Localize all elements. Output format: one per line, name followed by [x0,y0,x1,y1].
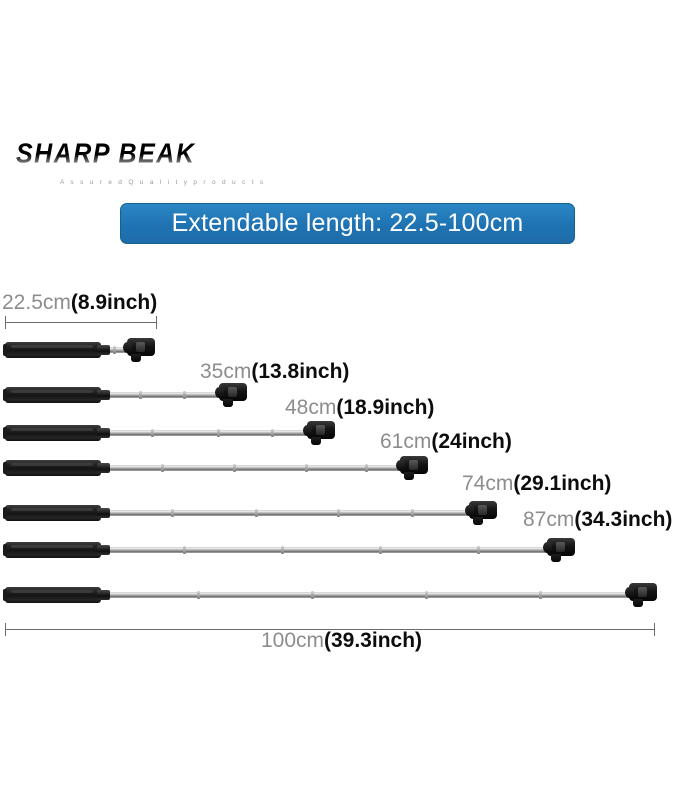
length-label-35cm: 35cm(13.8inch) [200,360,349,384]
extendable-length-banner: Extendable length: 22.5-100cm [120,203,575,244]
length-label-61cm: 61cm(24inch) [380,430,512,454]
shaft-joint [411,509,414,517]
brand-wordmark: SHARP BEAK [16,138,256,169]
shaft-joint [271,429,274,437]
shaft-joint [171,509,174,517]
mount-foot [131,354,141,362]
camera-mount-head [543,537,577,563]
mount-foot [404,472,414,480]
dimension-tick-right [156,316,157,329]
mount-foot [633,599,643,607]
camera-mount-head [625,582,659,608]
camera-mount-head [396,455,430,481]
length-label-inch: (34.3inch) [574,508,672,531]
length-label-cm: 22.5cm [2,291,71,314]
shaft-collar [97,345,110,355]
camera-mount-head [465,500,499,526]
foam-grip [5,542,101,558]
shaft-joint [539,591,542,599]
mount-knob [625,587,634,598]
mount-knob [303,425,312,436]
camera-mount-head [215,382,249,408]
telescoping-shaft [99,592,634,598]
length-label-100cm: 100cm(39.3inch) [0,629,683,653]
foam-grip [5,425,101,441]
shaft-joint [255,509,258,517]
length-label-cm: 48cm [285,396,336,419]
shaft-joint [379,546,382,554]
shaft-collar [97,590,110,600]
shaft-joint [183,546,186,554]
mount-foot [223,399,233,407]
foam-grip [5,387,101,403]
length-label-inch: (39.3inch) [324,629,422,652]
shaft-joint [233,464,236,472]
length-label-74cm: 74cm(29.1inch) [462,472,611,496]
length-label-inch: (13.8inch) [251,360,349,383]
shaft-collar [97,390,110,400]
telescoping-shaft [99,510,471,516]
shaft-joint [197,591,200,599]
length-label-87cm: 87cm(34.3inch) [523,508,672,532]
shaft-collar [97,508,110,518]
shaft-joint [139,391,142,399]
mount-foot [551,554,561,562]
mount-knob [543,542,552,553]
mount-knob [396,460,405,471]
length-label-inch: (24inch) [431,430,512,453]
mount-slot [478,505,487,515]
length-label-22-5cm: 22.5cm(8.9inch) [2,291,157,315]
shaft-collar [97,545,110,555]
length-label-inch: (18.9inch) [336,396,434,419]
camera-mount-head [123,337,157,363]
length-label-cm: 61cm [380,430,431,453]
mount-slot [228,387,237,397]
mount-knob [123,342,132,353]
shaft-joint [337,509,340,517]
length-label-cm: 100cm [261,629,324,652]
shaft-joint [151,429,154,437]
length-label-cm: 35cm [200,360,251,383]
shaft-joint [365,464,368,472]
length-label-cm: 74cm [462,472,513,495]
length-label-48cm: 48cm(18.9inch) [285,396,434,420]
telescoping-shaft [99,547,549,553]
shaft-joint [311,591,314,599]
mount-slot [409,460,418,470]
shaft-joint [281,546,284,554]
telescoping-shaft [99,392,221,398]
mount-slot [638,587,647,597]
shaft-joint [305,464,308,472]
mount-slot [556,542,565,552]
product-infographic: SHARP BEAK A s s u r e d Q u a l i t y p… [0,0,683,800]
shaft-joint [113,346,116,354]
brand-tagline: A s s u r e d Q u a l i t y p r o d u c … [60,179,256,186]
mount-knob [465,505,474,516]
shaft-joint [425,591,428,599]
mount-foot [473,517,483,525]
foam-grip [5,342,101,358]
dimension-line-min [5,316,157,329]
foam-grip [5,460,101,476]
mount-slot [136,342,145,352]
mount-knob [215,387,224,398]
dimension-bar [5,322,157,323]
shaft-collar [97,463,110,473]
telescoping-shaft [99,465,402,471]
telescoping-shaft [99,430,309,436]
mount-foot [311,437,321,445]
brand-logo: SHARP BEAK A s s u r e d Q u a l i t y p… [16,138,256,193]
foam-grip [5,505,101,521]
shaft-joint [161,464,164,472]
banner-text: Extendable length: 22.5-100cm [172,211,524,236]
camera-mount-head [303,420,337,446]
mount-slot [316,425,325,435]
foam-grip [5,587,101,603]
length-label-cm: 87cm [523,508,574,531]
shaft-joint [183,391,186,399]
length-label-inch: (29.1inch) [513,472,611,495]
shaft-joint [217,429,220,437]
shaft-collar [97,428,110,438]
shaft-joint [477,546,480,554]
length-label-inch: (8.9inch) [71,291,157,314]
